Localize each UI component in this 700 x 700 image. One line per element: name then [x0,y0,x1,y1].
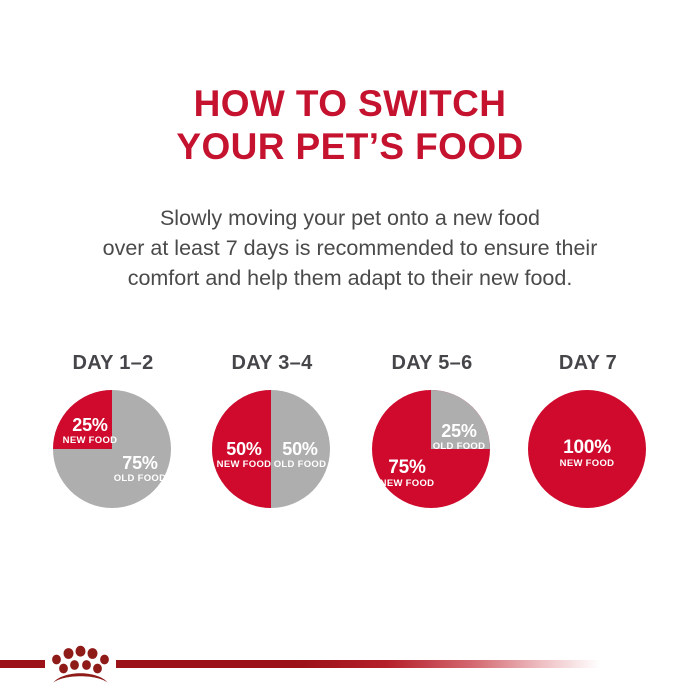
pie-chart-day-7: DAY 7 100% NEW FOOD [508,352,668,522]
pie-slice-old-food [431,390,490,449]
day-label-3-4: DAY 3–4 [192,352,352,375]
pie-graphic-day-1-2: 25% NEW FOOD 75% OLD FOOD [53,390,171,508]
body-line-1: Slowly moving your pet onto a new food [0,203,700,233]
pie-chart-day-1-2: DAY 1–2 25% NEW FOOD 75% OLD FOOD [33,352,193,522]
footer [0,640,700,700]
pie-chart-row: DAY 1–2 25% NEW FOOD 75% OLD FOOD DAY 3–… [0,352,700,522]
pie-graphic-day-7: 100% NEW FOOD [528,390,646,508]
pie-graphic-day-5-6: 25% OLD FOOD 75% NEW FOOD [372,390,490,508]
body-paragraph: Slowly moving your pet onto a new food o… [0,203,700,293]
pie-chart-day-5-6: DAY 5–6 25% OLD FOOD 75% NEW FOOD [352,352,512,522]
pie-chart-day-3-4: DAY 3–4 50% NEW FOOD 50% OLD FOOD [192,352,352,522]
day-label-7: DAY 7 [508,352,668,375]
page-title: HOW TO SWITCH YOUR PET’S FOOD [0,82,700,168]
pie-slice-new-food [53,390,112,449]
pie-slice-new-food [212,390,271,508]
body-line-2: over at least 7 days is recommended to e… [0,233,700,263]
pie-graphic-day-3-4: 50% NEW FOOD 50% OLD FOOD [212,390,330,508]
day-label-5-6: DAY 5–6 [352,352,512,375]
infographic-canvas: HOW TO SWITCH YOUR PET’S FOOD Slowly mov… [0,0,700,700]
title-line-1: HOW TO SWITCH [0,82,700,125]
footer-rule-left [0,660,45,668]
day-label-1-2: DAY 1–2 [33,352,193,375]
pie-slice-new-food [528,390,646,508]
body-line-3: comfort and help them adapt to their new… [0,263,700,293]
footer-rule-right [116,660,600,668]
title-line-2: YOUR PET’S FOOD [0,125,700,168]
crown-icon [45,643,116,685]
